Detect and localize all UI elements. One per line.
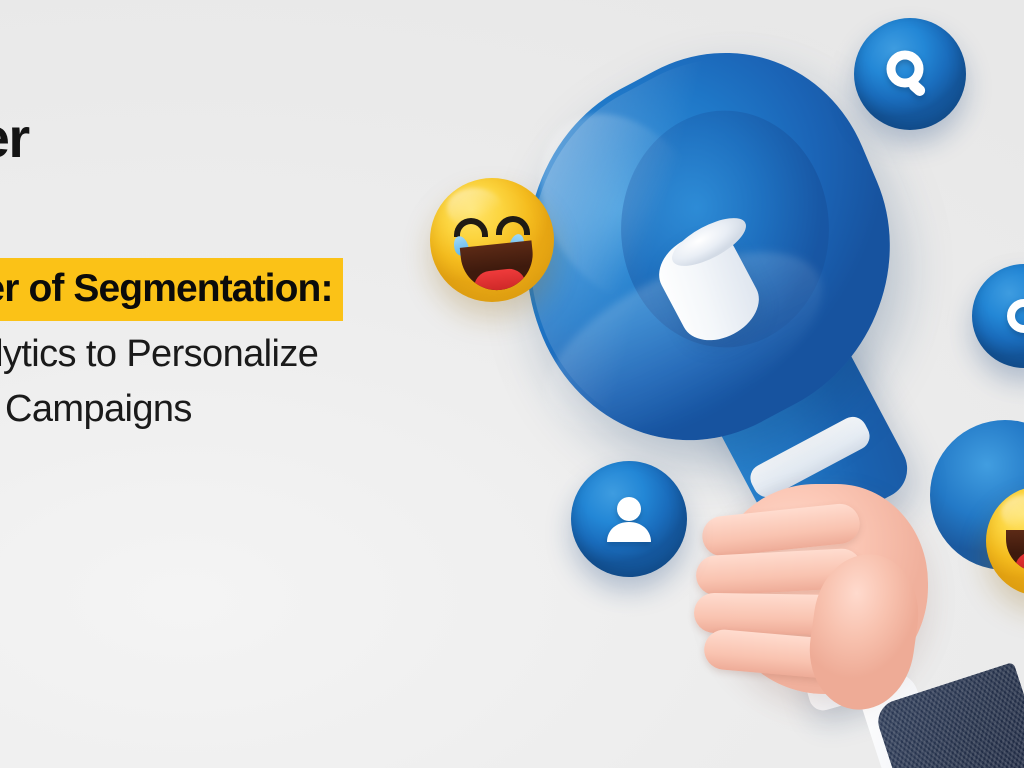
emoji-mouth xyxy=(1006,530,1024,572)
hand-illustration xyxy=(690,458,1024,768)
tears-of-joy-emoji xyxy=(430,178,554,302)
search-icon-badge xyxy=(854,18,966,130)
brand-fragment-text: ber xyxy=(0,110,29,166)
emoji-tongue xyxy=(473,267,527,293)
right-edge-badge xyxy=(972,264,1024,368)
headline-line-2: nalytics to Personalize xyxy=(0,332,584,376)
search-icon xyxy=(881,45,939,103)
emoji-eye-right xyxy=(496,216,530,235)
circle-badge-icon xyxy=(999,291,1024,341)
user-icon xyxy=(598,488,660,550)
emoji-tongue xyxy=(1015,552,1024,572)
emoji-mouth xyxy=(460,240,536,293)
headline-highlighted-line: wer of Segmentation: xyxy=(0,258,343,321)
user-icon-badge xyxy=(571,461,687,577)
emoji-gloss xyxy=(1001,495,1024,530)
headline-line-3: ng Campaigns xyxy=(0,387,584,431)
hero-banner: ber wer of Segmentation: nalytics to Per… xyxy=(0,0,1024,768)
